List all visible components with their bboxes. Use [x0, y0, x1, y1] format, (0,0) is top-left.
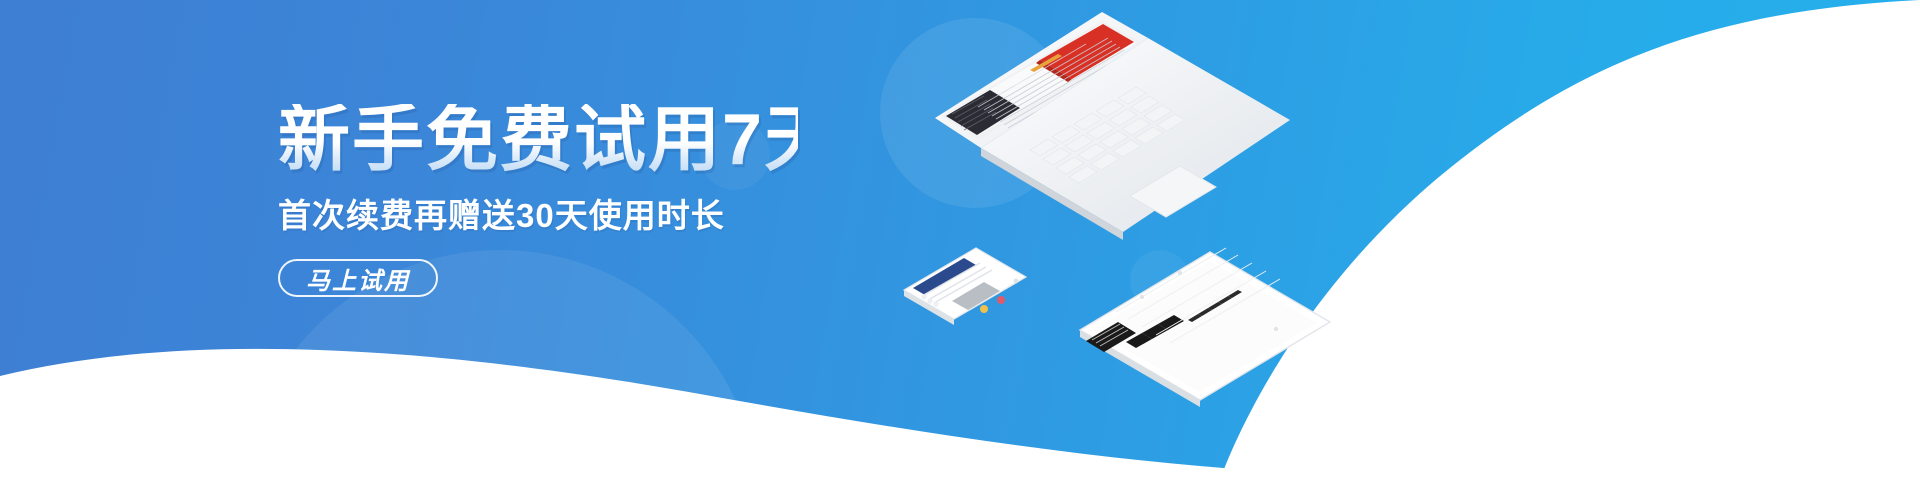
tablet-device	[1080, 248, 1330, 407]
devices-illustration	[880, 0, 1440, 480]
try-now-button[interactable]: 马上试用	[278, 259, 438, 297]
copy-block: 新手免费试用7天 首次续费再赠送30天使用时长 马上试用	[278, 104, 798, 297]
page-subtitle: 首次续费再赠送30天使用时长	[278, 189, 798, 237]
phone-device	[904, 248, 1026, 325]
promo-banner: 新手免费试用7天 首次续费再赠送30天使用时长 马上试用	[0, 0, 1920, 480]
page-title: 新手免费试用7天	[278, 104, 798, 177]
laptop-device	[935, 12, 1290, 240]
